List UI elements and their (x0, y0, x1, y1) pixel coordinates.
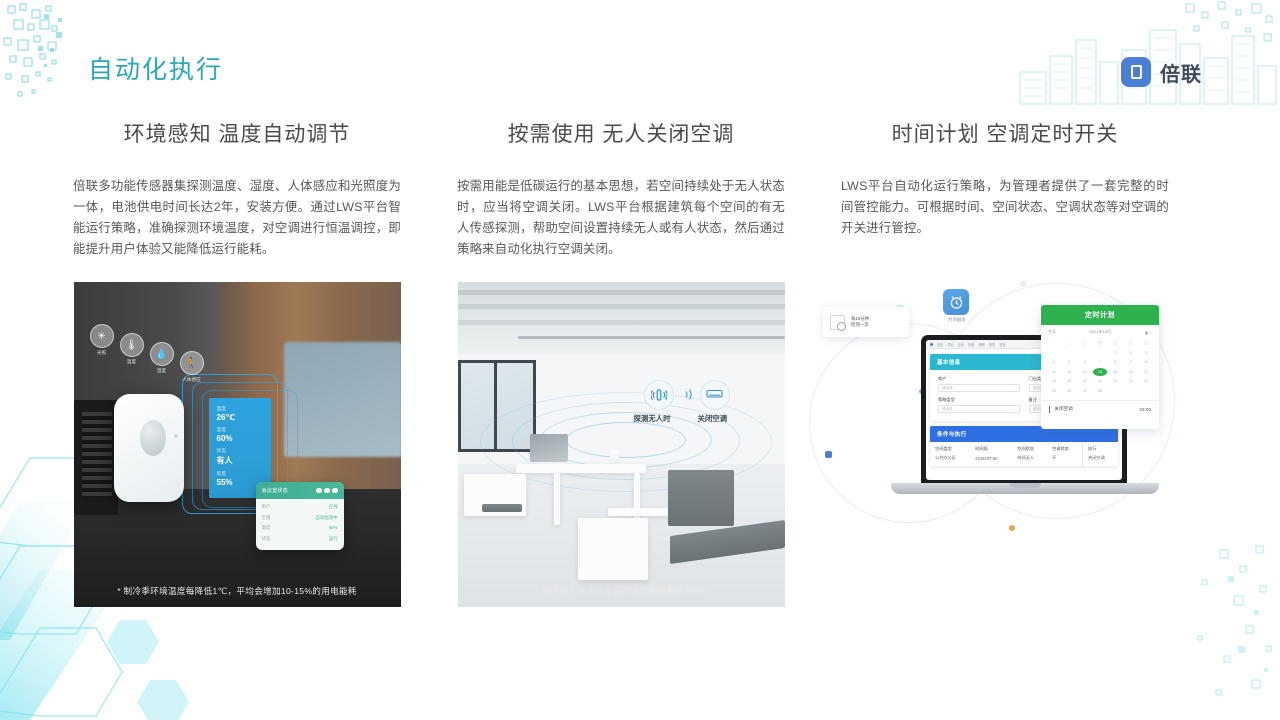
calendar-day[interactable]: 8 (1108, 358, 1122, 366)
signal-wave-icon (682, 388, 695, 401)
humidity-drop-icon: 💧 湿度 (150, 342, 174, 366)
decor-circle-outline (1021, 281, 1026, 286)
card-action-dots-icon (316, 488, 337, 493)
sensor-capability-icons: ☀ 光照 🌡 温度 💧 湿度 🚶 人体感应 (90, 324, 230, 374)
calendar-month-label: 2021年10月 (1090, 329, 1111, 335)
page-title: 自动化执行 (88, 50, 223, 86)
alarm-clock-icon (943, 289, 969, 315)
square-logo-icon (1121, 57, 1151, 87)
calendar-day[interactable]: 6 (1078, 358, 1092, 366)
condition-execution-panel: 条件与执行 空间类型 时间段 空间状态 空调状态 执行 公共办公区 (930, 426, 1118, 466)
brand-name: 倍联 (1160, 58, 1202, 87)
tag-label-detect: 探测无人时 (634, 413, 671, 424)
calendar-day[interactable]: 16 (1124, 368, 1138, 376)
chevron-down-icon: ⌄ (1012, 386, 1015, 390)
calendar-day[interactable]: 27 (1078, 387, 1092, 395)
presence-sensor-icon (644, 380, 674, 410)
calendar-day-selected[interactable]: 14 (1093, 368, 1107, 376)
decor-dot (825, 451, 832, 458)
field-merchant: 商户 请选择 ⌄ (938, 376, 1020, 392)
calendar-day[interactable]: 7 (1093, 358, 1107, 366)
calendar-title: 定时计划 (1041, 305, 1159, 325)
calendar-day[interactable]: 28 (1093, 387, 1107, 395)
status-row: 湿度 60% (262, 525, 338, 531)
calendar-day[interactable]: 23 (1124, 377, 1138, 385)
thermometer-icon: 🌡 温度 (120, 333, 144, 357)
calendar-day[interactable]: 12 (1062, 368, 1076, 376)
sun-icon: ☀ 光照 (90, 324, 114, 348)
decor-dot (1009, 525, 1015, 531)
calendar-day[interactable] (1047, 349, 1061, 357)
calendar-day[interactable]: 22 (1108, 377, 1122, 385)
table-header-row: 空间类型 时间段 空间状态 空调状态 执行 (930, 442, 1118, 454)
appbar-item[interactable]: 报表 (989, 342, 995, 347)
calendar-day[interactable]: 15 (1108, 368, 1122, 376)
calendar-day[interactable] (1078, 349, 1092, 357)
scenario-tags: 探测无人时 关闭空调 (638, 380, 762, 426)
calendar-day[interactable] (1124, 387, 1138, 395)
merchant-select[interactable]: 请选择 ⌄ (938, 384, 1020, 392)
column-heading: 按需使用 无人关闭空调 (429, 118, 813, 148)
event-label: 关闭空调 (1054, 406, 1072, 412)
calendar-day[interactable]: 4 (1047, 358, 1061, 366)
column-on-demand-usage: 按需使用 无人关闭空调 按需用能是低碳运行的基本思想，若空间持续处于无人状态时，… (429, 108, 813, 607)
calendar-grid: 一 二 三 四 五 六 日 1 2 3 4 5 6 (1041, 339, 1159, 395)
calendar-day[interactable]: 1 (1108, 349, 1122, 357)
sensor-on-wall-photo: ☀ 光照 🌡 温度 💧 湿度 🚶 人体感应 温度 26℃ 湿度 60% 状态 有… (74, 282, 401, 607)
calendar-day[interactable] (1108, 387, 1122, 395)
slide-header: 自动化执行 倍联 (0, 0, 1280, 110)
figure-caption: * 通常由于无人关空调而造成的浪费约为5% (458, 585, 785, 597)
calendar-day[interactable]: 18 (1047, 377, 1061, 385)
calendar-day[interactable] (1139, 387, 1153, 395)
calendar-day[interactable]: 19 (1062, 377, 1076, 385)
calendar-day[interactable]: 3 (1139, 349, 1153, 357)
room-status-card: 会议室状态 用户 在线 空调 自动恒温中 湿度 60% 状态 (256, 482, 344, 550)
event-time: 22:00 (1140, 407, 1152, 412)
appbar-item[interactable]: 告警 (999, 342, 1005, 347)
status-row: 用户 在线 (262, 504, 338, 510)
schedule-calendar-card: 定时计划 今天 2021年10月 ▦ + 一 二 三 四 五 六 日 (1041, 305, 1159, 429)
column-body-text: 按需用能是低碳运行的基本思想，若空间持续处于无人状态时，应当将空调关闭。LWS平… (457, 176, 785, 260)
calendar-day[interactable]: 13 (1078, 368, 1092, 376)
column-environment-sensing: 环境感知 温度自动调节 倍联多功能传感器集探测温度、湿度、人体感应和光照度为一体… (45, 108, 429, 607)
laptop-schedule-mockup: 每15分钟 检测一次 时间触发 首页 项目 空间 设备 (813, 277, 1197, 547)
calendar-day[interactable]: 2 (1124, 349, 1138, 357)
appbar-item[interactable]: 空间 (958, 342, 964, 347)
strategy-type-select[interactable]: 请选择 ⌄ (938, 405, 1020, 413)
calendar-day[interactable]: 17 (1139, 368, 1153, 376)
column-body-text: 倍联多功能传感器集探测温度、湿度、人体感应和光照度为一体，电池供电时间长达2年，… (73, 176, 401, 260)
doc-search-icon (830, 315, 845, 330)
calendar-day[interactable]: 25 (1047, 387, 1061, 395)
column-heading: 时间计划 空调定时开关 (813, 118, 1197, 148)
decor-pixel-cluster-bottom-right (1050, 540, 1280, 720)
calendar-day[interactable]: 9 (1124, 358, 1138, 366)
calendar-event-row[interactable]: 关闭空调 22:00 (1041, 400, 1159, 418)
calendar-day[interactable] (1093, 349, 1107, 357)
condition-table: 空间类型 时间段 空间状态 空调状态 执行 公共办公区 22:00-07:00 … (930, 442, 1118, 466)
calendar-day[interactable] (1062, 349, 1076, 357)
detection-interval-chip: 每15分钟 检测一次 (823, 307, 909, 337)
calendar-day[interactable]: 21 (1093, 377, 1107, 385)
appbar-item[interactable]: 项目 (947, 342, 953, 347)
tag-label-turnoff: 关闭空调 (698, 413, 728, 424)
calendar-day[interactable]: 11 (1047, 368, 1061, 376)
chip-line-2: 检测一次 (851, 322, 869, 329)
field-strategy-type: 策略类型 请选择 ⌄ (938, 397, 1020, 413)
calendar-add-button[interactable]: ▦ + (1145, 330, 1152, 335)
calendar-day[interactable]: 24 (1139, 377, 1153, 385)
calendar-day[interactable]: 26 (1062, 387, 1076, 395)
air-conditioner-icon (700, 380, 730, 410)
trigger-label: 时间触发 (931, 317, 983, 323)
status-row: 状态 运行 (262, 536, 338, 542)
human-motion-icon: 🚶 人体感应 (180, 351, 204, 375)
table-row: 公共办公区 22:00-07:00 持续无人 开 关闭空调 (930, 454, 1118, 466)
appbar-item[interactable]: 设备 (968, 342, 974, 347)
column-body-text: LWS平台自动化运行策略，为管理者提供了一套完整的时间管控能力。可根据时间、空间… (841, 176, 1169, 239)
column-heading: 环境感知 温度自动调节 (45, 118, 429, 148)
open-office-photo: 探测无人时 关闭空调 * 通常由于无人关空调而造成的浪费约为5% (458, 282, 785, 607)
chevron-down-icon: ⌄ (1012, 407, 1015, 411)
appbar-item[interactable]: 策略 (979, 342, 985, 347)
column-time-schedule: 时间计划 空调定时开关 LWS平台自动化运行策略，为管理者提供了一套完整的时间管… (813, 108, 1197, 547)
status-row: 空调 自动恒温中 (262, 515, 338, 521)
appbar-item[interactable]: 首页 (937, 342, 943, 347)
figure-caption: * 制冷季环境温度每降低1℃，平均会增加10-15%的用电能耗 (74, 585, 401, 597)
laptop-notch (1009, 483, 1041, 488)
calendar-day[interactable]: 10 (1139, 358, 1153, 366)
calendar-day[interactable]: 5 (1062, 358, 1076, 366)
calendar-nav: 今天 2021年10月 ▦ + (1041, 325, 1159, 339)
calendar-today-button[interactable]: 今天 (1048, 329, 1056, 335)
brand-logo: 倍联 (1121, 57, 1202, 87)
calendar-day[interactable]: 20 (1078, 377, 1092, 385)
